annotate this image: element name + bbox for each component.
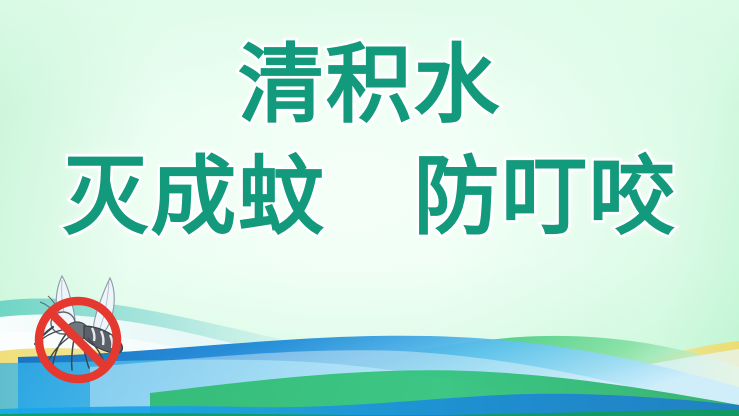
headline-line-1: 清积水 — [0, 42, 739, 128]
poster-canvas: 清积水 灭成蚊 防叮咬 — [0, 0, 739, 416]
headline-line-2: 灭成蚊 防叮咬 — [0, 154, 739, 240]
headline-block: 清积水 灭成蚊 防叮咬 — [0, 42, 739, 240]
no-mosquito-icon — [22, 268, 138, 390]
